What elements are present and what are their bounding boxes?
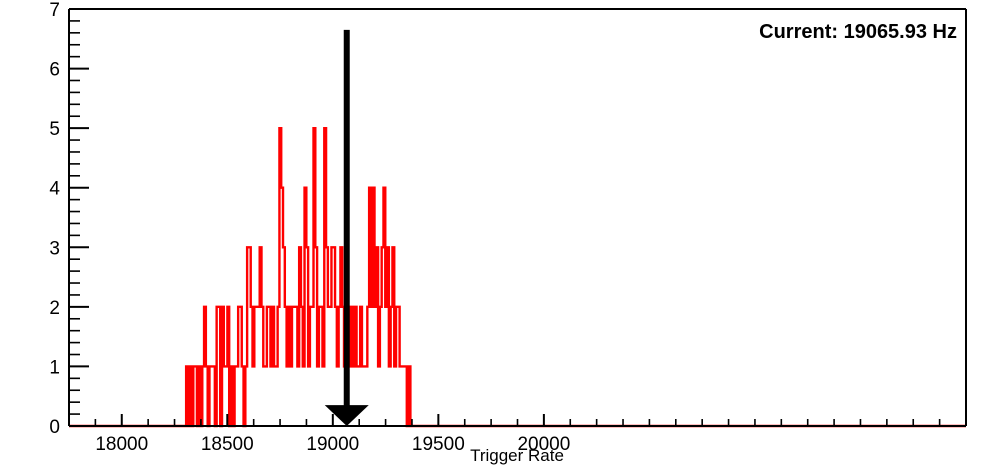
y-tick-label: 1 xyxy=(49,357,60,378)
plot-background xyxy=(0,0,996,472)
y-tick-label: 6 xyxy=(49,60,60,81)
current-value-label: Current: 19065.93 Hz xyxy=(759,21,957,43)
root-canvas: 1800018500190001950020000 01234567 Trigg… xyxy=(0,0,996,472)
y-tick-label: 0 xyxy=(49,417,60,438)
y-tick-label: 5 xyxy=(49,119,60,140)
x-tick-label: 19000 xyxy=(306,434,359,455)
y-tick-label: 4 xyxy=(49,179,60,200)
x-tick-label: 18500 xyxy=(201,434,254,455)
x-tick-label: 19500 xyxy=(412,434,465,455)
histogram-plot[interactable]: 1800018500190001950020000 01234567 Trigg… xyxy=(0,0,996,472)
x-tick-label: 18000 xyxy=(95,434,148,455)
x-axis-title: Trigger Rate xyxy=(470,446,564,465)
y-tick-label: 2 xyxy=(49,298,60,319)
y-tick-label: 3 xyxy=(49,238,60,259)
y-tick-label: 7 xyxy=(49,0,60,21)
